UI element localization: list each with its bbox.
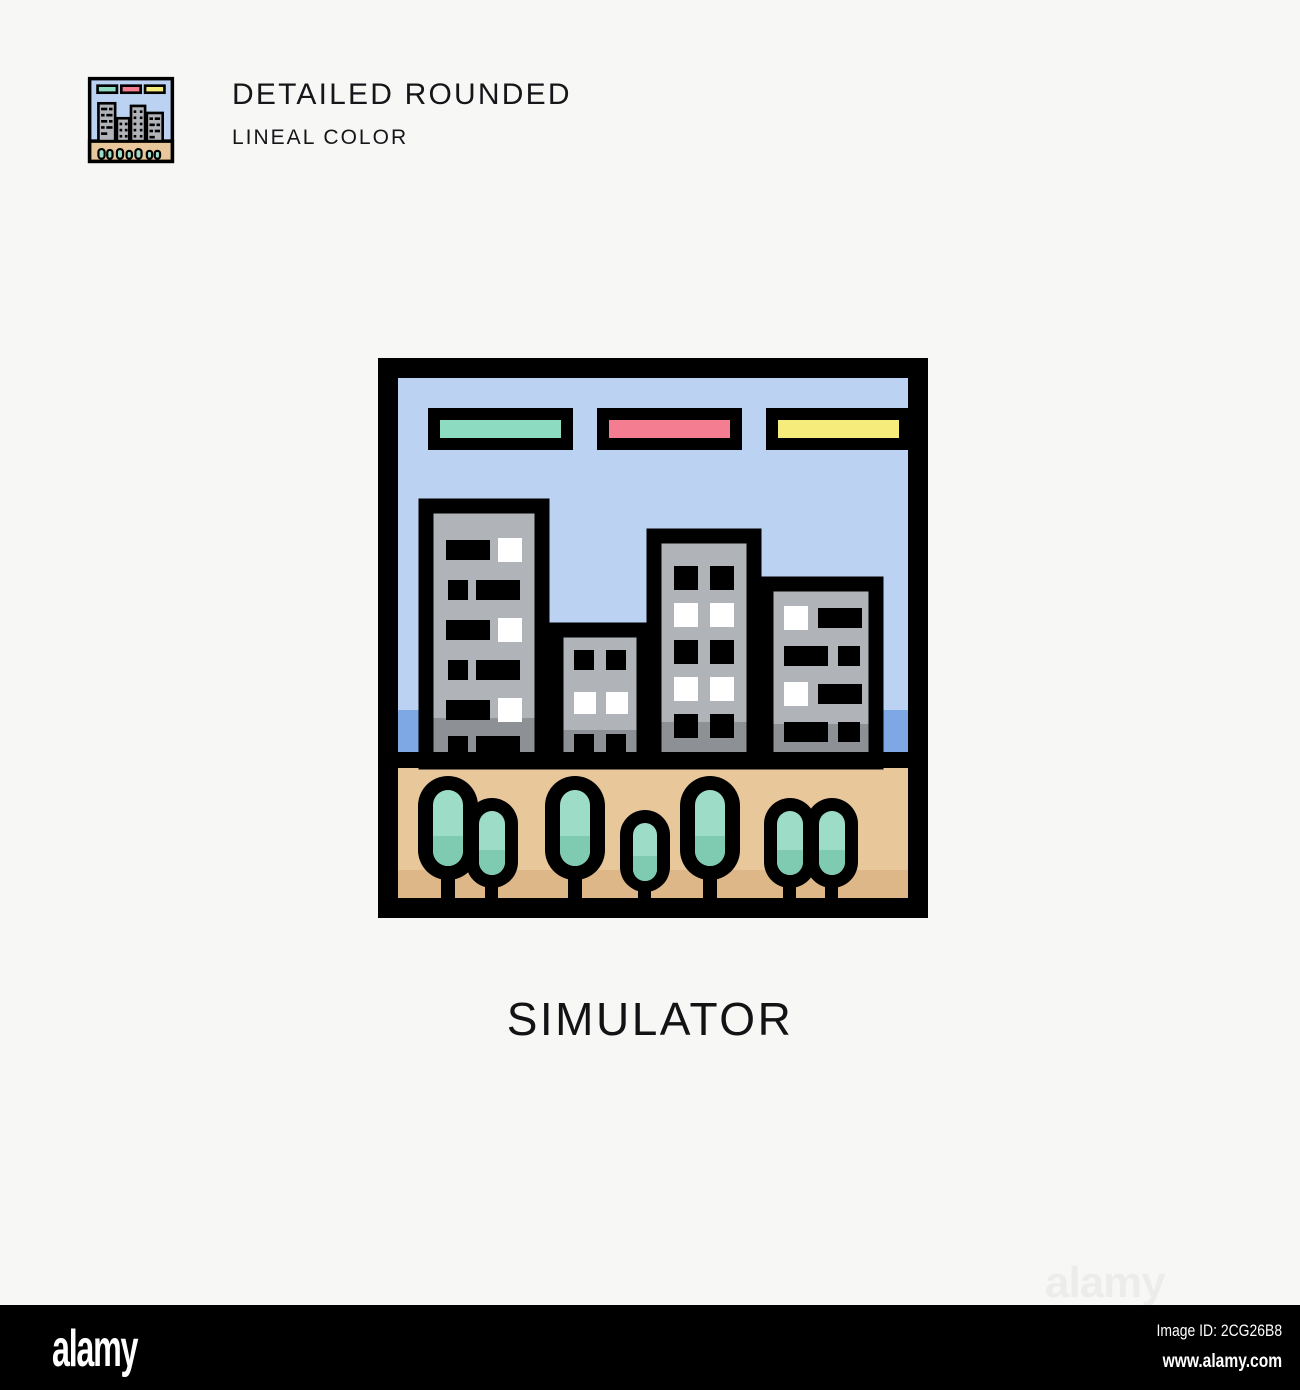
page-canvas: DETAILED ROUNDED LINEAL COLOR bbox=[0, 0, 1300, 1390]
header: DETAILED ROUNDED LINEAL COLOR bbox=[86, 76, 572, 164]
status-bar-green bbox=[428, 408, 573, 450]
alamy-url[interactable]: www.alamy.com bbox=[1156, 1351, 1282, 1373]
building-tall-left bbox=[426, 506, 542, 762]
footer-bar: alamy Image ID: 2CG26B8 www.alamy.com bbox=[0, 1305, 1300, 1390]
header-subtitle: LINEAL COLOR bbox=[232, 126, 572, 150]
watermark-corner: alamy bbox=[1045, 1258, 1165, 1308]
status-bar-pink bbox=[597, 408, 742, 450]
city-simulator-icon bbox=[378, 358, 928, 918]
header-title: DETAILED ROUNDED bbox=[232, 80, 572, 110]
page-title: SIMULATOR bbox=[0, 992, 1300, 1046]
footer-meta: Image ID: 2CG26B8 www.alamy.com bbox=[1129, 1321, 1282, 1373]
building-short-center bbox=[556, 630, 644, 762]
building-mid-right bbox=[766, 584, 876, 762]
tree-4 bbox=[620, 810, 670, 898]
alamy-logo: alamy bbox=[52, 1323, 137, 1375]
status-bar-yellow bbox=[766, 408, 911, 450]
image-id-label: Image ID: 2CG26B8 bbox=[1156, 1321, 1282, 1341]
header-text-block: DETAILED ROUNDED LINEAL COLOR bbox=[232, 76, 572, 150]
city-simulator-thumbnail-icon bbox=[86, 76, 176, 164]
city-simulator-illustration bbox=[378, 358, 928, 918]
ground-divider bbox=[388, 752, 918, 768]
building-tall-center bbox=[654, 536, 754, 762]
